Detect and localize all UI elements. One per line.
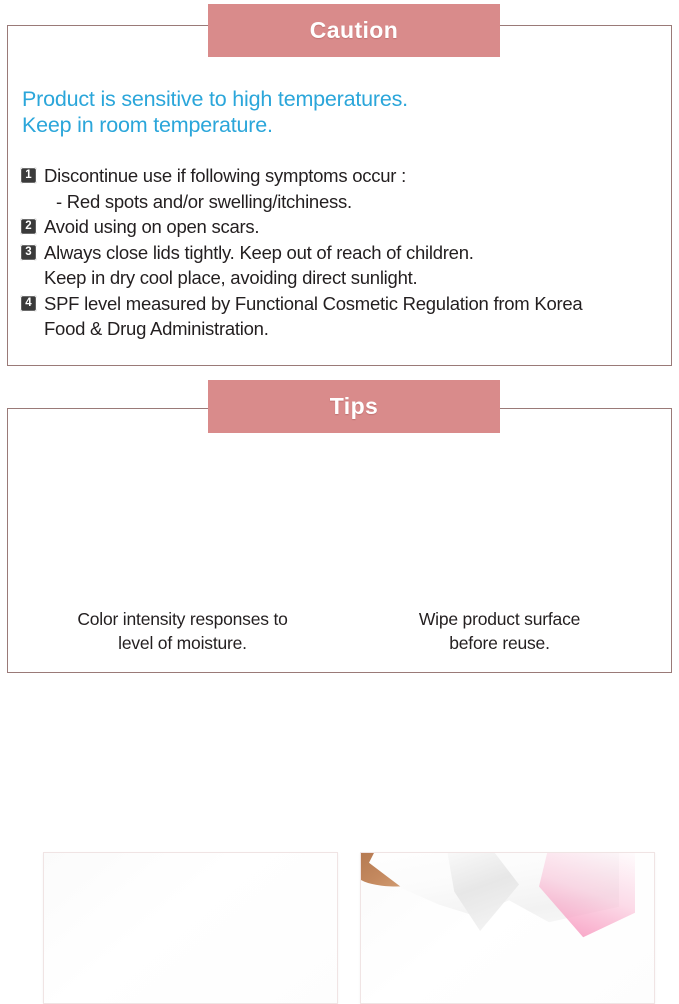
tip-caption-line: before reuse.: [352, 631, 647, 655]
tip-caption-line: Wipe product surface: [352, 607, 647, 631]
list-item-line: Discontinue use if following symptoms oc…: [44, 163, 670, 189]
tip-caption-line: Color intensity responses to: [35, 607, 330, 631]
tissue-pink-stain: [539, 852, 635, 941]
list-number-badge: 4: [20, 295, 37, 312]
caution-heading: Product is sensitive to high temperature…: [22, 86, 652, 138]
list-item-line: Keep in dry cool place, avoiding direct …: [44, 265, 670, 291]
caution-section: Product is sensitive to high temperature…: [7, 25, 672, 366]
tip-caption-1: Color intensity responses to level of mo…: [35, 607, 330, 655]
caution-banner: Caution: [208, 4, 500, 57]
list-item-line: SPF level measured by Functional Cosmeti…: [44, 291, 670, 317]
product-caution-tips-card: Product is sensitive to high temperature…: [0, 0, 679, 679]
tip-caption-2: Wipe product surface before reuse.: [352, 607, 647, 655]
tip-image-panel-1: [43, 852, 338, 1004]
list-item-line: - Red spots and/or swelling/itchiness.: [44, 189, 670, 215]
caution-list: 1 Discontinue use if following symptoms …: [20, 163, 670, 342]
tip-caption-line: level of moisture.: [35, 631, 330, 655]
caution-heading-line-1: Product is sensitive to high temperature…: [22, 86, 652, 112]
list-item-line: Avoid using on open scars.: [44, 214, 670, 240]
list-item-text: Avoid using on open scars.: [44, 214, 670, 240]
caution-heading-line-2: Keep in room temperature.: [22, 112, 652, 138]
list-number-badge: 1: [20, 167, 37, 184]
list-item-line: Food & Drug Administration.: [44, 316, 670, 342]
list-item-text: Always close lids tightly. Keep out of r…: [44, 240, 670, 291]
list-item: 2 Avoid using on open scars.: [20, 214, 670, 240]
tips-banner-label: Tips: [330, 393, 378, 420]
tip-image-panel-2: [360, 852, 655, 1004]
tips-banner: Tips: [208, 380, 500, 433]
list-item-text: Discontinue use if following symptoms oc…: [44, 163, 670, 214]
list-item-text: SPF level measured by Functional Cosmeti…: [44, 291, 670, 342]
list-number-badge: 2: [20, 218, 37, 235]
caution-banner-label: Caution: [310, 17, 398, 44]
list-number-badge: 3: [20, 244, 37, 261]
list-item: 1 Discontinue use if following symptoms …: [20, 163, 670, 214]
list-item-line: Always close lids tightly. Keep out of r…: [44, 240, 670, 266]
list-item: 3 Always close lids tightly. Keep out of…: [20, 240, 670, 291]
list-item: 4 SPF level measured by Functional Cosme…: [20, 291, 670, 342]
